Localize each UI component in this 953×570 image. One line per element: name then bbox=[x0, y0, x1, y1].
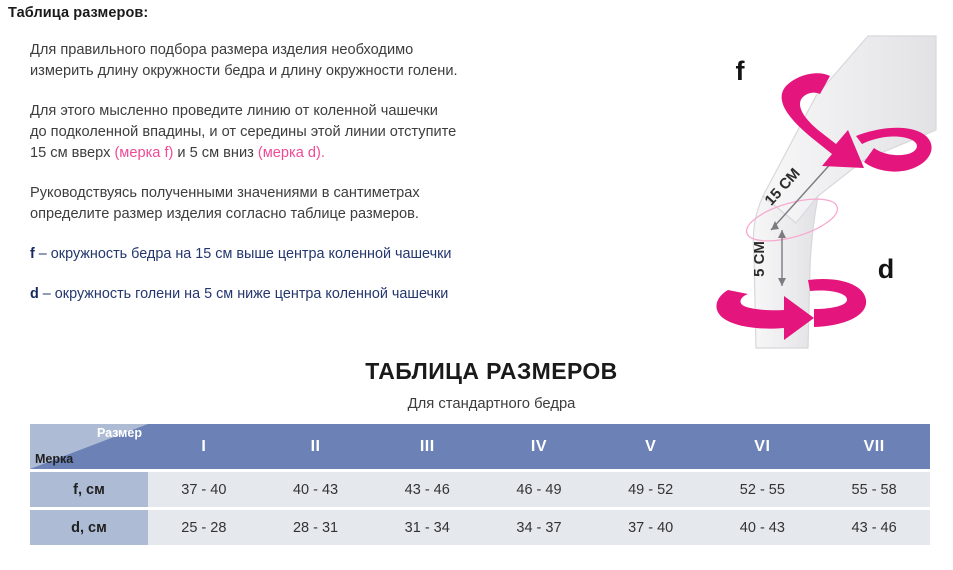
illustration-label-d: d bbox=[878, 254, 895, 284]
size-table-subtitle: Для стандартного бедра bbox=[0, 396, 953, 412]
cell-f-3: 43 - 46 bbox=[371, 472, 483, 507]
dimension-5cm-label: 5 СМ bbox=[751, 241, 768, 277]
cell-f-5: 49 - 52 bbox=[595, 472, 707, 507]
column-header-2: II bbox=[260, 424, 372, 469]
column-header-3: III bbox=[371, 424, 483, 469]
measure-d-callout: (мерка d). bbox=[258, 145, 325, 161]
cell-d-7: 43 - 46 bbox=[818, 510, 930, 545]
size-table-title: ТАБЛИЦА РАЗМЕРОВ bbox=[0, 358, 953, 385]
intro-paragraph-3: Руководствуясь полученными значениями в … bbox=[30, 183, 650, 225]
note-f-text: – окружность бедра на 15 см выше центра … bbox=[35, 246, 452, 262]
cell-d-2: 28 - 31 bbox=[260, 510, 372, 545]
row-label-f: f, см bbox=[30, 472, 148, 507]
cell-f-6: 52 - 55 bbox=[707, 472, 819, 507]
note-f: f – окружность бедра на 15 см выше центр… bbox=[30, 244, 650, 264]
cell-d-5: 37 - 40 bbox=[595, 510, 707, 545]
row-label-d: d, см bbox=[30, 510, 148, 545]
column-header-1: I bbox=[148, 424, 260, 469]
cell-f-4: 46 - 49 bbox=[483, 472, 595, 507]
corner-measure-label: Мерка bbox=[35, 452, 73, 466]
note-d-text: – окружность голени на 5 см ниже центра … bbox=[39, 286, 449, 302]
intro-paragraph-2: Для этого мысленно проведите линию от ко… bbox=[30, 101, 650, 164]
cell-f-2: 40 - 43 bbox=[260, 472, 372, 507]
cell-d-3: 31 - 34 bbox=[371, 510, 483, 545]
cell-d-4: 34 - 37 bbox=[483, 510, 595, 545]
table-row: f, см 37 - 40 40 - 43 43 - 46 46 - 49 49… bbox=[30, 472, 930, 507]
intro-text-block: Для правильного подбора размера изделия … bbox=[30, 40, 650, 324]
intro-paragraph-2-part-2: и 5 см вниз bbox=[173, 145, 258, 161]
table-corner-cell: Размер Мерка bbox=[30, 424, 148, 469]
table-row: d, см 25 - 28 28 - 31 31 - 34 34 - 37 37… bbox=[30, 510, 930, 545]
cell-f-7: 55 - 58 bbox=[818, 472, 930, 507]
cell-d-1: 25 - 28 bbox=[148, 510, 260, 545]
cell-d-6: 40 - 43 bbox=[707, 510, 819, 545]
corner-size-label: Размер bbox=[97, 426, 142, 440]
column-header-7: VII bbox=[818, 424, 930, 469]
illustration-label-f: f bbox=[736, 56, 746, 86]
column-header-6: VI bbox=[707, 424, 819, 469]
note-d-label: d bbox=[30, 286, 39, 302]
column-header-4: IV bbox=[483, 424, 595, 469]
measure-f-callout: (мерка f) bbox=[114, 145, 173, 161]
column-header-5: V bbox=[595, 424, 707, 469]
cell-f-1: 37 - 40 bbox=[148, 472, 260, 507]
knee-measurement-illustration: 15 СМ 5 СМ f d bbox=[668, 18, 953, 363]
note-d: d – окружность голени на 5 см ниже центр… bbox=[30, 284, 650, 304]
page-title: Таблица размеров: bbox=[8, 5, 148, 21]
size-table: Размер Мерка I II III IV V VI VII f, см … bbox=[30, 424, 930, 545]
intro-paragraph-1: Для правильного подбора размера изделия … bbox=[30, 40, 650, 82]
size-table-header-row: Размер Мерка I II III IV V VI VII bbox=[30, 424, 930, 469]
